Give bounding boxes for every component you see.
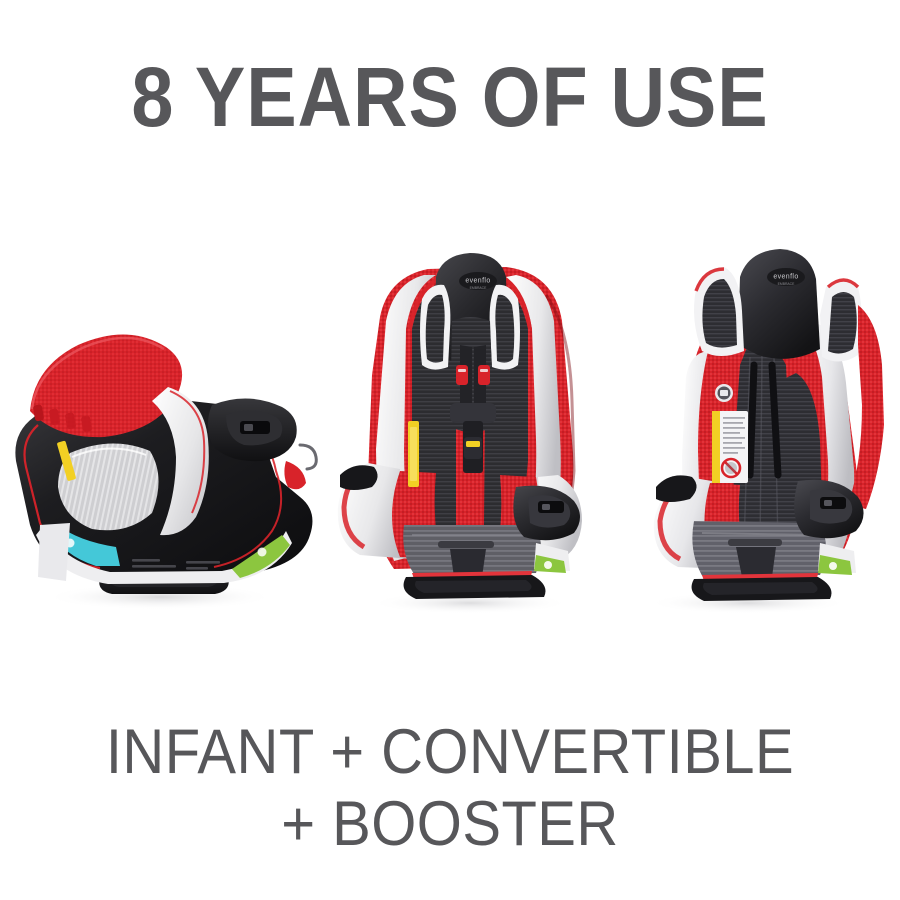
side-label-white (38, 523, 70, 581)
head-wing-left (420, 285, 450, 370)
headrest-extended[interactable]: evenflo EMBRACE (738, 249, 820, 359)
bolster-left-cap (340, 465, 378, 490)
svg-text:evenflo: evenflo (465, 278, 490, 285)
head-wing-right (820, 280, 862, 362)
head-wing-right (490, 285, 520, 370)
svg-text:evenflo: evenflo (773, 274, 798, 281)
seat-base (692, 577, 832, 601)
page-title: 8 YEARS OF USE (45, 50, 855, 144)
buckle-tongue[interactable] (464, 437, 482, 459)
seat-pan (403, 525, 541, 577)
seat-inner-mesh (58, 443, 159, 530)
caption-line-2: + BOOSTER (36, 788, 864, 860)
poster-canvas: 8 YEARS OF USE (0, 0, 900, 900)
product-lineup: evenflo EMBRACE (0, 225, 900, 625)
seat-convertible-forward-facing[interactable]: evenflo EMBRACE (320, 225, 610, 625)
product-modes-caption: INFANT + CONVERTIBLE + BOOSTER (36, 716, 864, 860)
chest-clip[interactable] (456, 365, 468, 385)
warning-label-airbag (712, 411, 748, 483)
svg-text:EMBRACE: EMBRACE (778, 282, 796, 286)
svg-text:EMBRACE: EMBRACE (470, 286, 488, 290)
rear-red-accent (284, 461, 306, 489)
bolster-left-cap (656, 475, 697, 502)
buckle-pad (450, 403, 496, 423)
caption-line-1: INFANT + CONVERTIBLE (36, 716, 864, 788)
belt-hook-icon (300, 445, 316, 469)
seat-base (404, 575, 546, 599)
certification-badge (715, 384, 733, 402)
head-wing-left (694, 267, 744, 356)
seat-booster-high-back[interactable]: evenflo EMBRACE (590, 225, 890, 625)
base-label-band (818, 543, 856, 575)
cup-holder[interactable] (208, 398, 297, 461)
seat-infant-rear-facing[interactable] (0, 225, 330, 625)
